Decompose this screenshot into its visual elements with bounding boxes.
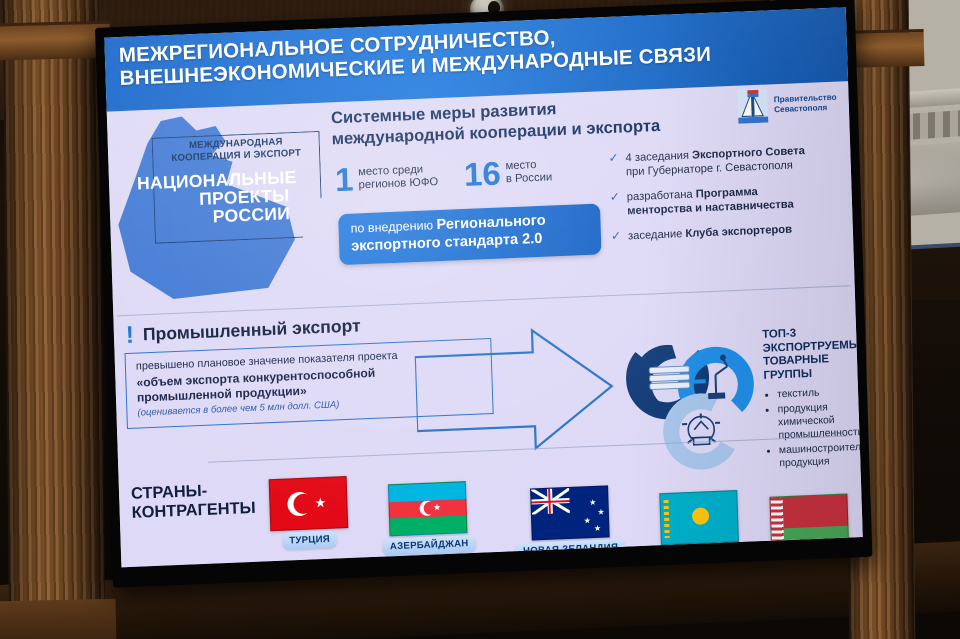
stat-item: 16 место в России <box>464 156 553 189</box>
kazakhstan-flag-icon <box>659 490 739 545</box>
stat-number: 16 <box>464 158 502 189</box>
industrial-export-heading: ! Промышленный экспорт <box>126 315 361 346</box>
check-bold1: Программа <box>696 186 758 201</box>
pilaster-capital-left <box>0 21 110 61</box>
check-icon: ✓ <box>608 152 619 180</box>
countries-label-line2: КОНТРАГЕНТЫ <box>131 499 256 523</box>
top3-item: текстиль <box>777 385 862 402</box>
checklist-item: ✓ разработана Программа менторства и нас… <box>610 182 843 219</box>
country-item-turkey: ★ ТУРЦИЯ <box>269 476 349 550</box>
check-icon: ✓ <box>610 191 621 219</box>
check-bold1: Клуба экспортеров <box>685 224 792 240</box>
pill-prefix: по внедрению <box>350 218 436 236</box>
slide-content: МЕЖРЕГИОНАЛЬНОЕ СОТРУДНИЧЕСТВО, ВНЕШНЕЭК… <box>104 7 862 567</box>
check-icon: ✓ <box>611 230 622 244</box>
azerbaijan-flag-icon: ★ <box>388 481 468 536</box>
stat-item: 1 место среди регионов ЮФО <box>335 161 439 195</box>
wooden-pilaster-left <box>2 0 105 639</box>
checklist-item: ✓ 4 заседания Экспортного Совета при Губ… <box>608 143 841 180</box>
stat-number: 1 <box>335 165 354 195</box>
stats-row: 1 место среди регионов ЮФО 16 место в Ро… <box>335 156 553 195</box>
national-projects-badge: МЕЖДУНАРОДНАЯ КООПЕРАЦИЯ И ЭКСПОРТ НАЦИО… <box>115 107 331 306</box>
check-plain1: разработана <box>627 189 696 204</box>
pilaster-base-left <box>0 599 116 639</box>
top3-heading-line2: ТОВАРНЫЕ ГРУППЫ <box>763 352 862 383</box>
stat-caption-line2: регионов ЮФО <box>358 176 438 192</box>
new-zealand-flag-icon: ★ ★ ★ ★ <box>530 485 610 540</box>
exclamation-icon: ! <box>126 326 135 346</box>
check-plain1: заседание <box>628 228 686 242</box>
gov-logo-line2: Севастополя <box>774 103 837 115</box>
checklist-item: ✓ заседание Клуба экспортеров <box>611 221 843 245</box>
screen-display: МЕЖРЕГИОНАЛЬНОЕ СОТРУДНИЧЕСТВО, ВНЕШНЕЭК… <box>104 7 862 567</box>
textile-stack-icon <box>649 366 690 390</box>
country-name: ТУРЦИЯ <box>282 531 337 550</box>
countries-label: СТРАНЫ- КОНТРАГЕНТЫ <box>131 480 256 524</box>
country-name: АЗЕРБАЙДЖАН <box>383 535 476 556</box>
country-item-azerbaijan: ★ АЗЕРБАЙДЖАН <box>381 481 476 556</box>
checklist: ✓ 4 заседания Экспортного Совета при Губ… <box>608 143 843 255</box>
presentation-screen: МЕЖРЕГИОНАЛЬНОЕ СОТРУДНИЧЕСТВО, ВНЕШНЕЭК… <box>95 0 872 588</box>
government-logo: Правительство Севастополя <box>738 86 838 124</box>
regional-standard-pill: по внедрению Регионального экспортного с… <box>338 203 601 264</box>
pill-bold-line1: Регионального <box>436 213 546 233</box>
stat-caption-line2: в России <box>506 171 553 186</box>
top3-heading-line1: ТОП-3 ЭКСПОРТРУЕМЫЕ <box>762 325 861 356</box>
sailing-ship-icon <box>738 88 769 123</box>
section-headline: Системные меры развития международной ко… <box>331 94 692 150</box>
industrial-export-title: Промышленный экспорт <box>143 315 361 345</box>
photo-scene: МЕЖРЕГИОНАЛЬНОЕ СОТРУДНИЧЕСТВО, ВНЕШНЕЭК… <box>0 0 960 639</box>
turkey-flag-icon: ★ <box>269 476 349 531</box>
right-arrow-icon <box>414 321 618 459</box>
check-plain1: 4 заседания <box>625 150 692 165</box>
